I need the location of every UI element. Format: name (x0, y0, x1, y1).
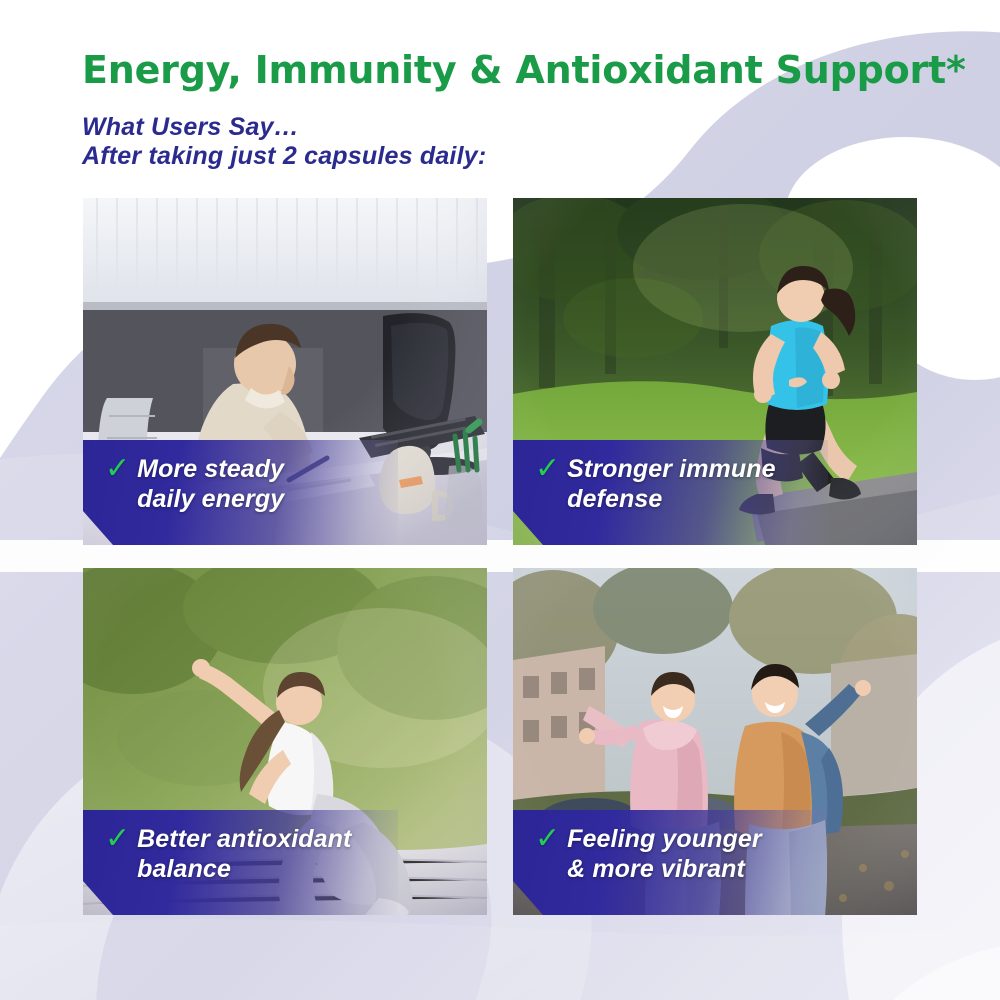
card-caption-overlay: ✓ More steady daily energy (83, 440, 398, 545)
card-caption-overlay: ✓ Feeling younger & more vibrant (513, 810, 828, 915)
card-better-antioxidant-balance[interactable]: ✓ Better antioxidant balance (83, 568, 487, 915)
card-caption-text: Feeling younger & more vibrant (567, 824, 762, 884)
page-title: Energy, Immunity & Antioxidant Support* (82, 48, 966, 92)
checkmark-icon: ✓ (105, 454, 130, 484)
card-stronger-immune-defense[interactable]: ✓ Stronger immune defense (513, 198, 917, 545)
checkmark-icon: ✓ (535, 454, 560, 484)
benefit-card-grid: ✓ More steady daily energy (83, 198, 917, 915)
card-caption-overlay: ✓ Stronger immune defense (513, 440, 828, 545)
infographic-canvas: Energy, Immunity & Antioxidant Support* … (0, 0, 1000, 1000)
card-feeling-younger-more-vibrant[interactable]: ✓ Feeling younger & more vibrant (513, 568, 917, 915)
card-caption-overlay: ✓ Better antioxidant balance (83, 810, 398, 915)
checkmark-icon: ✓ (105, 824, 130, 854)
checkmark-icon: ✓ (535, 824, 560, 854)
card-caption-text: Stronger immune defense (567, 454, 775, 514)
card-caption-text: More steady daily energy (137, 454, 284, 514)
subhead-what-users-say: What Users Say… (82, 113, 299, 142)
card-more-steady-daily-energy[interactable]: ✓ More steady daily energy (83, 198, 487, 545)
subhead-dosage-note: After taking just 2 capsules daily: (82, 142, 486, 171)
card-caption-text: Better antioxidant balance (137, 824, 351, 884)
